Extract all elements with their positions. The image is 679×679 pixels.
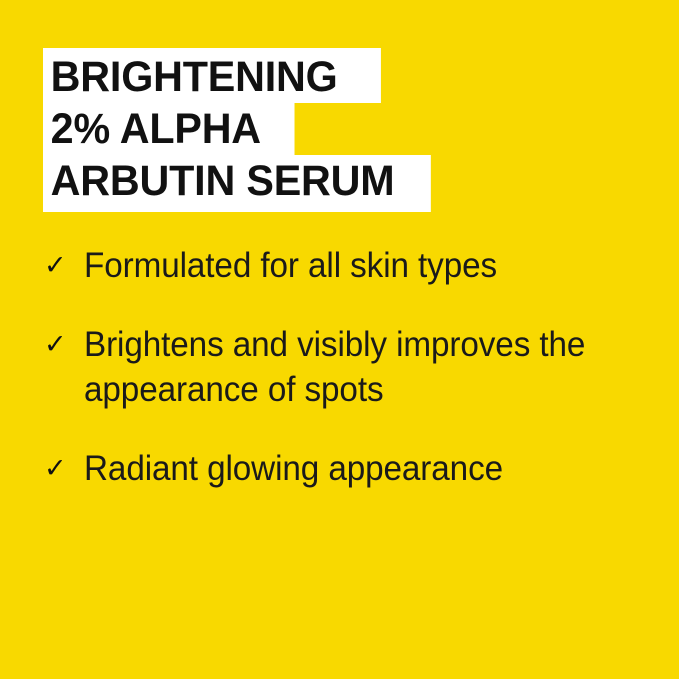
headline-line-1: BRIGHTENING <box>43 48 381 103</box>
list-item: ✓ Brightens and visibly improves the app… <box>44 322 664 412</box>
list-item: ✓ Formulated for all skin types <box>44 243 664 288</box>
page-title: BRIGHTENING 2% ALPHA ARBUTIN SERUM <box>43 48 447 212</box>
benefit-list: ✓ Formulated for all skin types ✓ Bright… <box>44 243 664 491</box>
headline-line-2: 2% ALPHA <box>43 103 295 155</box>
list-item: ✓ Radiant glowing appearance <box>44 446 664 491</box>
benefit-text: Brightens and visibly improves the appea… <box>84 322 635 412</box>
check-icon: ✓ <box>44 243 84 288</box>
headline-line-3: ARBUTIN SERUM <box>43 155 431 212</box>
product-benefits-poster: BRIGHTENING 2% ALPHA ARBUTIN SERUM ✓ For… <box>0 0 679 679</box>
check-icon: ✓ <box>44 446 84 491</box>
check-icon: ✓ <box>44 322 84 367</box>
benefit-text: Radiant glowing appearance <box>84 446 635 491</box>
benefit-text: Formulated for all skin types <box>84 243 635 288</box>
